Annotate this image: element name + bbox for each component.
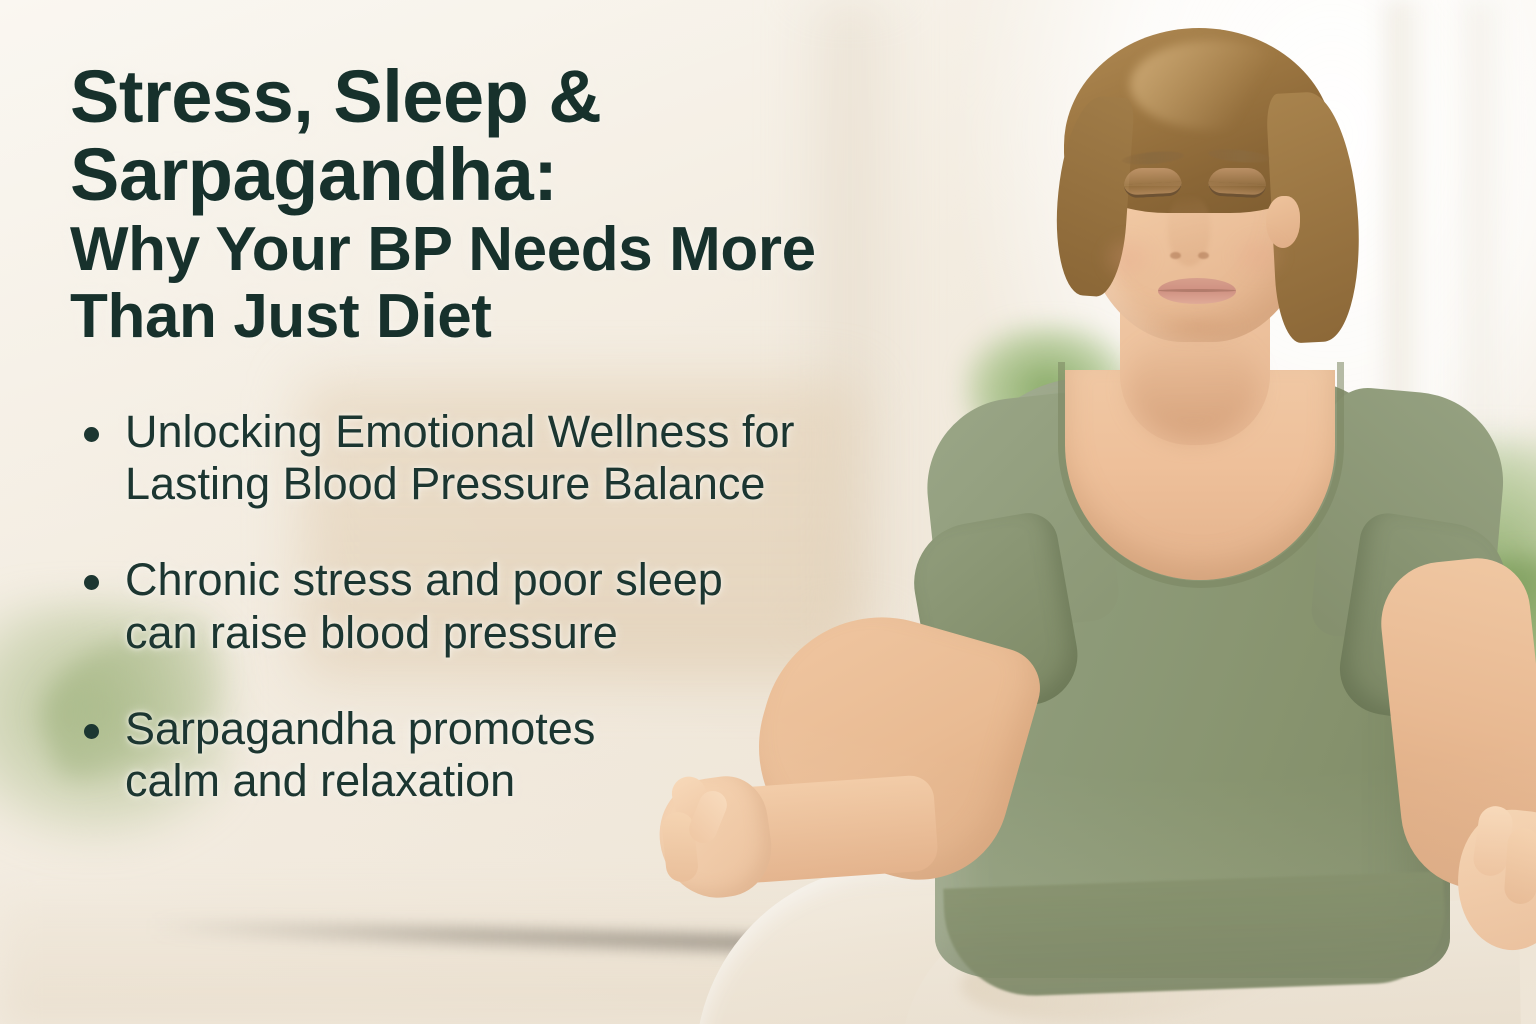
bullet-dot-icon [84,575,99,590]
bullet-3-line-1: Sarpagandha promotes [125,703,595,754]
page-subtitle: Why Your BP Needs More Than Just Diet [70,217,970,350]
list-item: Chronic stress and poor sleep can raise … [70,554,970,658]
lip-line [1158,289,1236,292]
title-line-1: Stress, Sleep & [70,55,601,138]
poster-canvas: Stress, Sleep & Sarpagandha: Why Your BP… [0,0,1536,1024]
bullet-1-line-2: Lasting Blood Pressure Balance [125,458,970,510]
cheek-right [1228,230,1288,282]
bullet-2-line-1: Chronic stress and poor sleep [125,554,723,605]
neck-shadow [1128,330,1258,440]
tshirt-hem [943,871,1447,998]
bullet-3-line-2: calm and relaxation [125,755,970,807]
subtitle-line-1: Why Your BP Needs More [70,215,816,284]
bullet-dot-icon [84,724,99,739]
bullet-list: Unlocking Emotional Wellness for Lasting… [70,406,970,807]
finger-right-middle [1503,827,1536,905]
subtitle-line-2: Than Just Diet [70,284,970,350]
chin-shadow [1150,312,1246,342]
bullet-2-line-2: can raise blood pressure [125,607,970,659]
text-overlay: Stress, Sleep & Sarpagandha: Why Your BP… [70,58,970,807]
nostril-right [1198,252,1209,259]
title-line-2: Sarpagandha: [70,136,970,214]
list-item: Sarpagandha promotes calm and relaxation [70,703,970,807]
bullet-1-line-1: Unlocking Emotional Wellness for [125,406,794,457]
list-item: Unlocking Emotional Wellness for Lasting… [70,406,970,510]
cheek-left [1098,232,1158,284]
bullet-dot-icon [84,427,99,442]
nostril-left [1170,252,1181,259]
page-title: Stress, Sleep & Sarpagandha: [70,58,970,213]
